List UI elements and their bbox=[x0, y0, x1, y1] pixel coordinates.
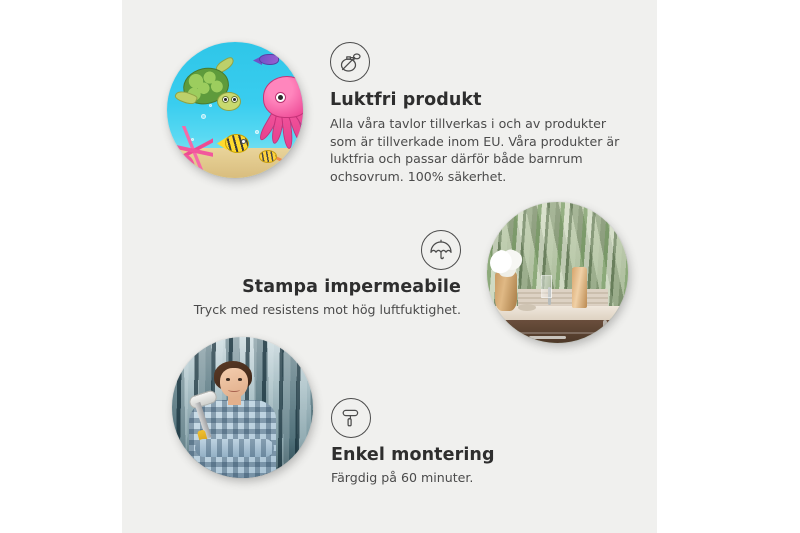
feature-title: Enkel montering bbox=[331, 445, 611, 465]
feature-description: Tryck med resistens mot hög luftfuktighe… bbox=[170, 301, 461, 319]
pink-coral-shape bbox=[173, 126, 213, 174]
feature-easy-mount: Enkel montering Färgdig på 60 minuter. bbox=[331, 398, 611, 487]
bubble bbox=[191, 138, 194, 141]
underwater-scene bbox=[167, 42, 303, 178]
turtle-right-pupil bbox=[233, 98, 236, 101]
amber-bottle bbox=[572, 267, 588, 308]
icon-row bbox=[170, 230, 461, 270]
woman-paint-roller-forest-photo bbox=[172, 337, 313, 478]
feature-waterproof: Stampa impermeabile Tryck med resistens … bbox=[170, 230, 461, 319]
feature-title: Stampa impermeabile bbox=[170, 277, 461, 297]
smile bbox=[228, 388, 239, 392]
glass-container bbox=[541, 275, 552, 298]
yellow-fish-body bbox=[225, 134, 249, 153]
drawer-handle bbox=[529, 336, 566, 339]
feature-description: Färgdig på 60 minuter. bbox=[331, 469, 611, 487]
copper-vase bbox=[495, 271, 516, 310]
purple-fish-body bbox=[259, 54, 279, 65]
bubble bbox=[255, 130, 259, 134]
bathroom-scene bbox=[487, 202, 628, 343]
bubble bbox=[201, 114, 206, 119]
paint-roller-icon bbox=[331, 398, 371, 438]
umbrella-icon bbox=[421, 230, 461, 270]
bubble bbox=[209, 104, 212, 107]
turtle-left-pupil bbox=[224, 98, 227, 101]
feature-description: Alla våra tavlor tillverkas i och av pro… bbox=[330, 115, 622, 186]
feature-title: Luktfri produkt bbox=[330, 90, 622, 110]
no-odour-spray-bottle-icon bbox=[330, 42, 370, 82]
octopus-pupil bbox=[278, 95, 283, 100]
underwater-cartoon-photo bbox=[167, 42, 303, 178]
soap-dish bbox=[518, 304, 536, 311]
white-flowers bbox=[490, 249, 524, 277]
right-eye bbox=[238, 378, 243, 381]
turtle-head bbox=[217, 92, 241, 111]
face bbox=[220, 368, 248, 398]
drawer-seam bbox=[495, 332, 619, 334]
small-yellow-fish bbox=[259, 150, 277, 163]
bubble bbox=[289, 66, 293, 70]
feature-odourless: Luktfri produkt Alla våra tavlor tillver… bbox=[330, 42, 622, 186]
forest-wallpaper-scene bbox=[172, 337, 313, 478]
crossed-arms bbox=[195, 439, 274, 457]
left-eye bbox=[226, 378, 231, 381]
cabinet-handle bbox=[603, 320, 607, 340]
yellow-fish-eye bbox=[241, 139, 246, 144]
product-feature-banner: Luktfri produkt Alla våra tavlor tillver… bbox=[0, 0, 800, 533]
bathroom-tropical-wallpaper-photo bbox=[487, 202, 628, 343]
